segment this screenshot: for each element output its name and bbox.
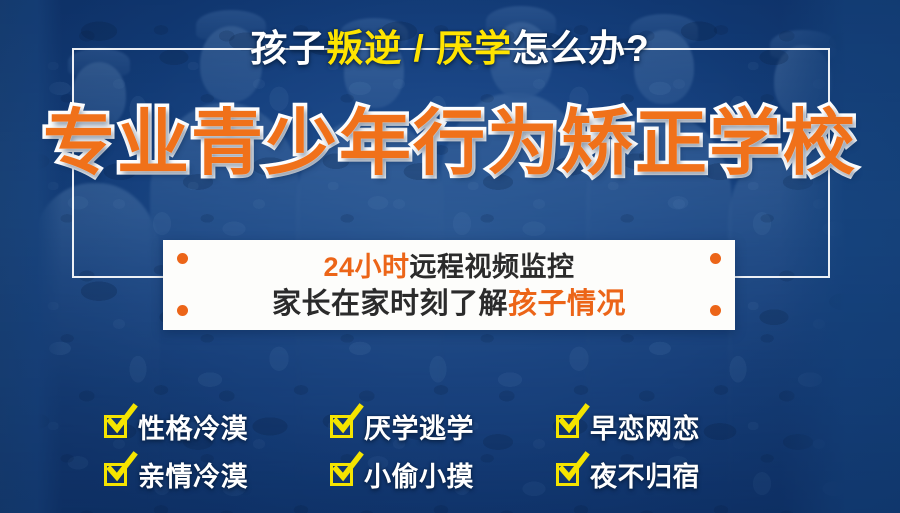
headline-text-part2: 怎么办? bbox=[512, 28, 650, 69]
checklist-item-3: 亲情冷漠 bbox=[104, 455, 330, 494]
info-line2-highlight: 孩子情况 bbox=[508, 288, 626, 320]
main-title: 专业青少年行为矫正学校 bbox=[0, 101, 900, 187]
checklist-item-label: 早恋网恋 bbox=[590, 407, 700, 446]
checkbox-checked-icon bbox=[556, 415, 579, 438]
symptom-checklist: 性格冷漠 厌学逃学 早恋网恋 亲情冷漠 小偷小摸 bbox=[104, 402, 784, 498]
info-box: 24小时远程视频监控 家长在家时刻了解孩子情况 bbox=[163, 240, 735, 330]
checkbox-checked-icon bbox=[104, 415, 127, 438]
checklist-item-label: 夜不归宿 bbox=[590, 455, 700, 494]
info-box-dot-bottom-left bbox=[177, 305, 188, 316]
checklist-item-label: 厌学逃学 bbox=[364, 407, 474, 446]
info-line2-rest: 家长在家时刻了解 bbox=[272, 288, 508, 320]
checklist-item-label: 性格冷漠 bbox=[138, 407, 248, 446]
info-box-dot-bottom-right bbox=[710, 305, 721, 316]
checklist-item-1: 厌学逃学 bbox=[330, 407, 556, 446]
checkbox-checked-icon bbox=[330, 415, 353, 438]
checkbox-checked-icon bbox=[556, 463, 579, 486]
info-line1-highlight: 24小时 bbox=[323, 252, 409, 282]
checklist-item-4: 小偷小摸 bbox=[330, 455, 556, 494]
checkbox-checked-icon bbox=[104, 463, 127, 486]
checkbox-checked-icon bbox=[330, 463, 353, 486]
promo-banner: 孩子叛逆 / 厌学怎么办? 专业青少年行为矫正学校 24小时远程视频监控 家长在… bbox=[0, 0, 900, 513]
checklist-item-label: 小偷小摸 bbox=[364, 455, 474, 494]
headline-text-highlight: 叛逆 / 厌学 bbox=[326, 28, 512, 69]
info-line1-rest: 远程视频监控 bbox=[410, 252, 575, 282]
info-box-dot-top-left bbox=[177, 253, 188, 264]
headline-text-part1: 孩子 bbox=[250, 28, 326, 69]
checklist-item-2: 早恋网恋 bbox=[556, 407, 782, 446]
info-box-line-1: 24小时远程视频监控 bbox=[197, 249, 701, 285]
checklist-item-5: 夜不归宿 bbox=[556, 455, 782, 494]
headline: 孩子叛逆 / 厌学怎么办? bbox=[0, 26, 900, 72]
checklist-item-0: 性格冷漠 bbox=[104, 407, 330, 446]
info-box-line-2: 家长在家时刻了解孩子情况 bbox=[197, 285, 701, 323]
checklist-item-label: 亲情冷漠 bbox=[138, 455, 248, 494]
info-box-dot-top-right bbox=[710, 253, 721, 264]
